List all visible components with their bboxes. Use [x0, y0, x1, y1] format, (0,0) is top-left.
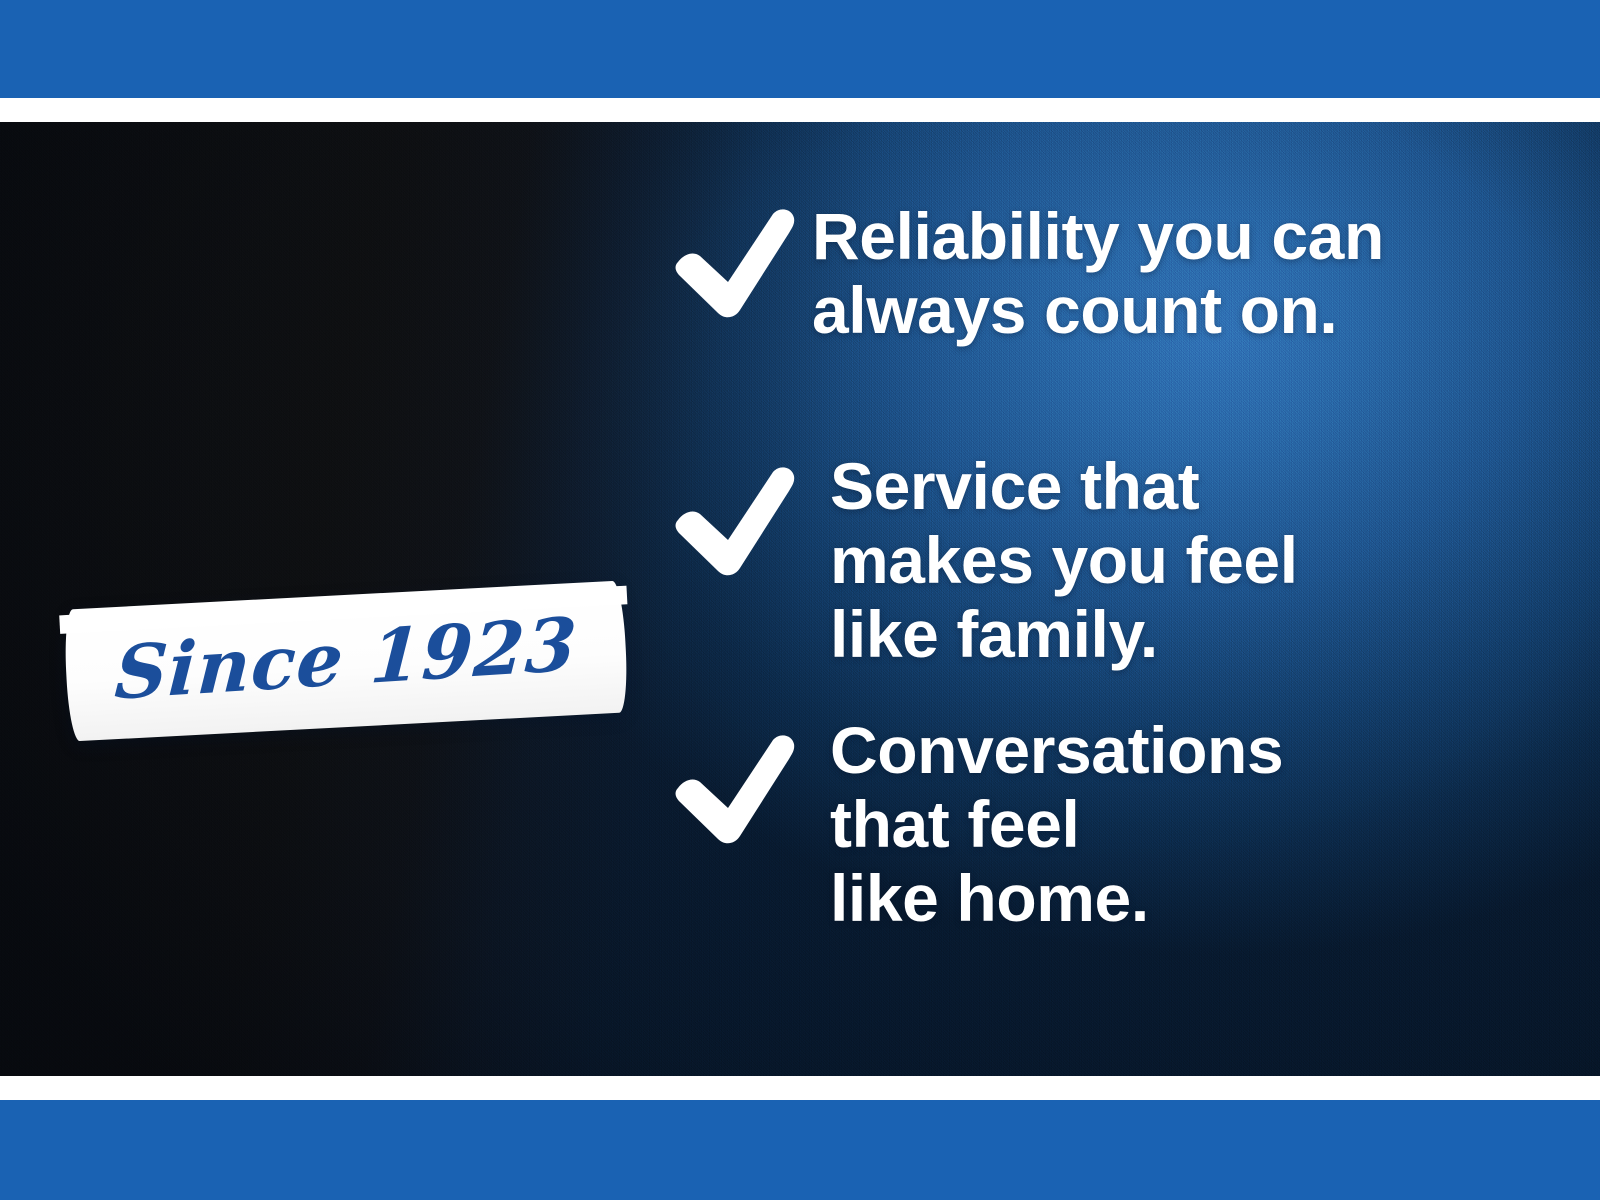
checkmark-icon — [668, 462, 798, 580]
bottom-white-divider — [0, 1076, 1600, 1100]
benefit-line: Conversations — [830, 714, 1283, 788]
benefit-line: makes you feel — [830, 524, 1298, 598]
top-white-divider — [0, 98, 1600, 122]
promo-graphic: WHERE OUR HOUSE IS YOUR HOUSE Since 1923… — [0, 0, 1600, 1200]
benefit-line: that feel — [830, 788, 1283, 862]
benefit-line: Service that — [830, 450, 1298, 524]
top-brand-band — [0, 0, 1600, 98]
benefit-line: Reliability you can — [812, 200, 1384, 274]
benefit-text: Conversations that feel like home. — [830, 714, 1283, 936]
bottom-brand-band — [0, 1100, 1600, 1200]
benefit-line: like family. — [830, 598, 1298, 672]
benefits-list: Reliability you can always count on. Ser… — [668, 122, 1598, 1092]
benefit-line: like home. — [830, 862, 1283, 936]
benefit-text: Service that makes you feel like family. — [830, 450, 1298, 672]
benefit-line: always count on. — [812, 274, 1384, 348]
benefit-item: Conversations that feel like home. — [668, 730, 1283, 936]
checkmark-icon — [668, 730, 798, 848]
benefit-item: Reliability you can always count on. — [668, 204, 1384, 348]
benefit-item: Service that makes you feel like family. — [668, 462, 1298, 672]
benefit-text: Reliability you can always count on. — [812, 200, 1384, 348]
checkmark-icon — [668, 204, 798, 322]
